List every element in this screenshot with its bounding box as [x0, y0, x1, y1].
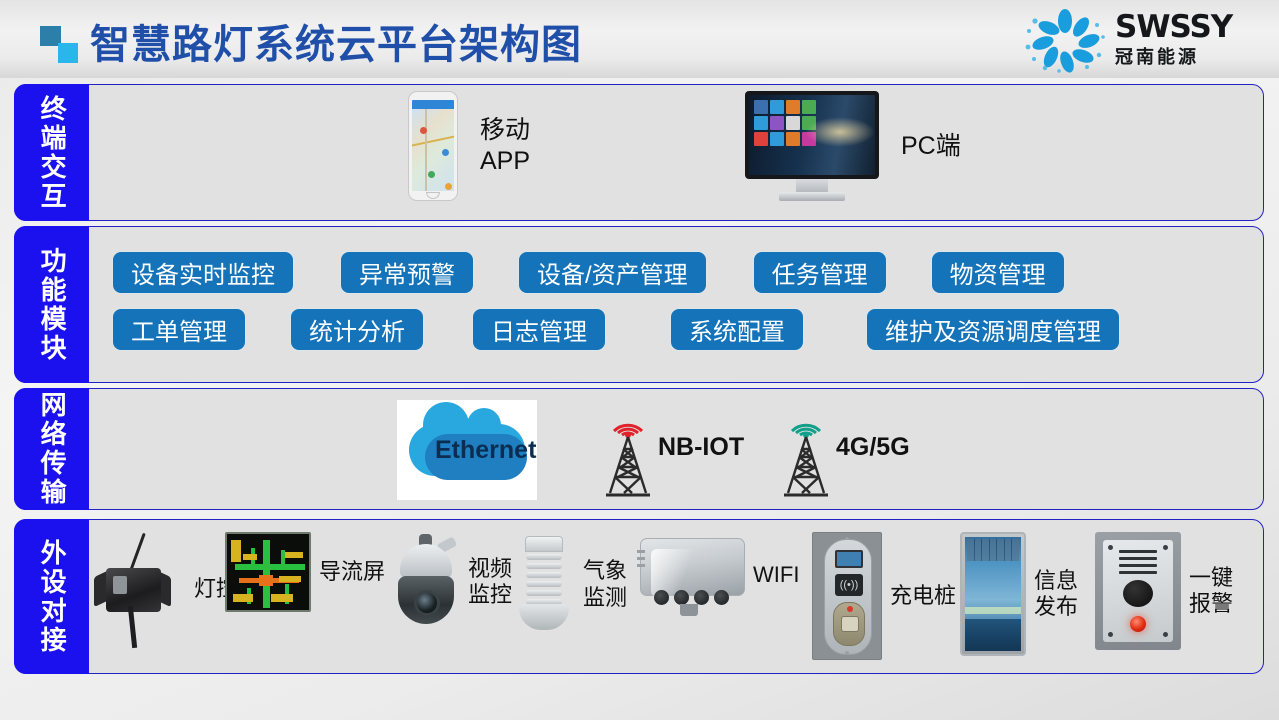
layer-tab-function[interactable]: 功能模块 — [14, 226, 89, 383]
ptz-camera-icon — [392, 532, 460, 632]
module-button-system-config[interactable]: 系统配置 — [670, 308, 804, 351]
layer-network-transmission: 网络传输 Ethernet — [14, 388, 1264, 510]
charging-pile-icon: ((•)) — [812, 532, 882, 660]
title-squares-icon — [40, 24, 82, 64]
terminal-item-label: 移动 APP — [480, 115, 530, 178]
module-button-maintenance-dispatch[interactable]: 维护及资源调度管理 — [866, 308, 1120, 351]
device-item-info-display[interactable]: 信息 发布 — [960, 532, 1078, 656]
network-item-label: 4G/5G — [836, 433, 910, 462]
device-item-label: WIFI — [753, 562, 799, 588]
module-button-statistics[interactable]: 统计分析 — [290, 308, 424, 351]
brand-name: SWSSY — [1115, 9, 1232, 45]
wifi-box-icon — [640, 532, 745, 618]
network-items: Ethernet — [90, 389, 1263, 509]
layer-terminal-interaction: 终端交互 移动 — [14, 84, 1264, 221]
device-item-charging-pile[interactable]: ((•)) 充电桩 — [812, 532, 956, 660]
info-display-icon — [960, 532, 1026, 656]
weather-station-icon — [513, 532, 575, 637]
network-item-label: Ethernet — [435, 436, 536, 465]
module-button-task-management[interactable]: 任务管理 — [753, 251, 887, 294]
terminal-item-mobile-app[interactable]: 移动 APP — [408, 91, 530, 201]
module-button-device-monitor[interactable]: 设备实时监控 — [112, 251, 294, 294]
device-item-emergency-alarm[interactable]: 一键 报警 — [1095, 532, 1233, 650]
device-item-weather-station[interactable]: 气象 监测 — [513, 532, 627, 637]
layer-tab-network[interactable]: 网络传输 — [14, 388, 89, 510]
signal-tower-icon — [592, 395, 664, 500]
device-item-lamp-controller[interactable]: 灯控 — [96, 532, 238, 647]
network-item-nbiot[interactable]: NB-IOT — [592, 395, 744, 500]
layer-tab-device[interactable]: 外设对接 — [14, 519, 89, 674]
device-item-wifi[interactable]: WIFI — [640, 532, 799, 618]
module-button-work-order[interactable]: 工单管理 — [112, 308, 246, 351]
module-row-1: 设备实时监控 异常预警 设备/资产管理 任务管理 物资管理 — [112, 251, 1065, 294]
layer-tab-label: 网络传输 — [38, 391, 65, 507]
module-button-material-management[interactable]: 物资管理 — [931, 251, 1065, 294]
terminal-item-pc[interactable]: PC端 — [745, 91, 961, 203]
lamp-controller-icon — [96, 532, 186, 647]
device-item-label: 气象 监测 — [583, 558, 627, 611]
device-item-video-surveillance[interactable]: 视频 监控 — [392, 532, 512, 632]
device-item-label: 视频 监控 — [468, 556, 512, 609]
layer-tab-label: 功能模块 — [38, 247, 65, 363]
layer-function-modules: 功能模块 设备实时监控 异常预警 设备/资产管理 任务管理 物资管理 工单管理 … — [14, 226, 1264, 383]
device-item-label: 充电桩 — [890, 583, 956, 609]
device-item-label: 一键 报警 — [1189, 565, 1233, 618]
page-title: 智慧路灯系统云平台架构图 — [90, 12, 582, 70]
mobile-phone-icon — [408, 91, 458, 201]
desktop-monitor-icon — [745, 91, 879, 203]
water-droplet-flower-icon — [1019, 7, 1111, 73]
device-item-label: 信息 发布 — [1034, 568, 1078, 621]
layer-device-integration: 外设对接 灯控 — [14, 519, 1264, 674]
module-row-2: 工单管理 统计分析 日志管理 系统配置 维护及资源调度管理 — [112, 308, 1120, 351]
layer-tab-terminal[interactable]: 终端交互 — [14, 84, 89, 221]
module-button-asset-management[interactable]: 设备/资产管理 — [518, 251, 707, 294]
module-button-anomaly-alert[interactable]: 异常预警 — [340, 251, 474, 294]
guide-screen-icon — [225, 532, 311, 612]
network-item-4g5g[interactable]: 4G/5G — [770, 395, 910, 500]
alarm-button-icon — [1095, 532, 1181, 650]
terminal-item-label: PC端 — [901, 131, 961, 162]
device-items: 灯控 — [90, 520, 1263, 673]
layer-tab-label: 外设对接 — [38, 539, 65, 655]
device-item-guide-screen[interactable]: 导流屏 — [225, 532, 385, 612]
network-item-ethernet[interactable]: Ethernet — [397, 400, 536, 500]
brand-subtitle: 冠南能源 — [1115, 43, 1232, 69]
module-button-log[interactable]: 日志管理 — [472, 308, 606, 351]
signal-tower-icon — [770, 395, 842, 500]
network-item-label: NB-IOT — [658, 433, 744, 462]
brand-logo: SWSSY 冠南能源 — [1019, 5, 1269, 75]
device-item-label: 导流屏 — [319, 559, 385, 585]
layer-tab-label: 终端交互 — [38, 95, 65, 211]
page-header: 智慧路灯系统云平台架构图 SWSSY 冠南能源 — [0, 0, 1279, 78]
terminal-items: 移动 APP — [90, 85, 1263, 220]
